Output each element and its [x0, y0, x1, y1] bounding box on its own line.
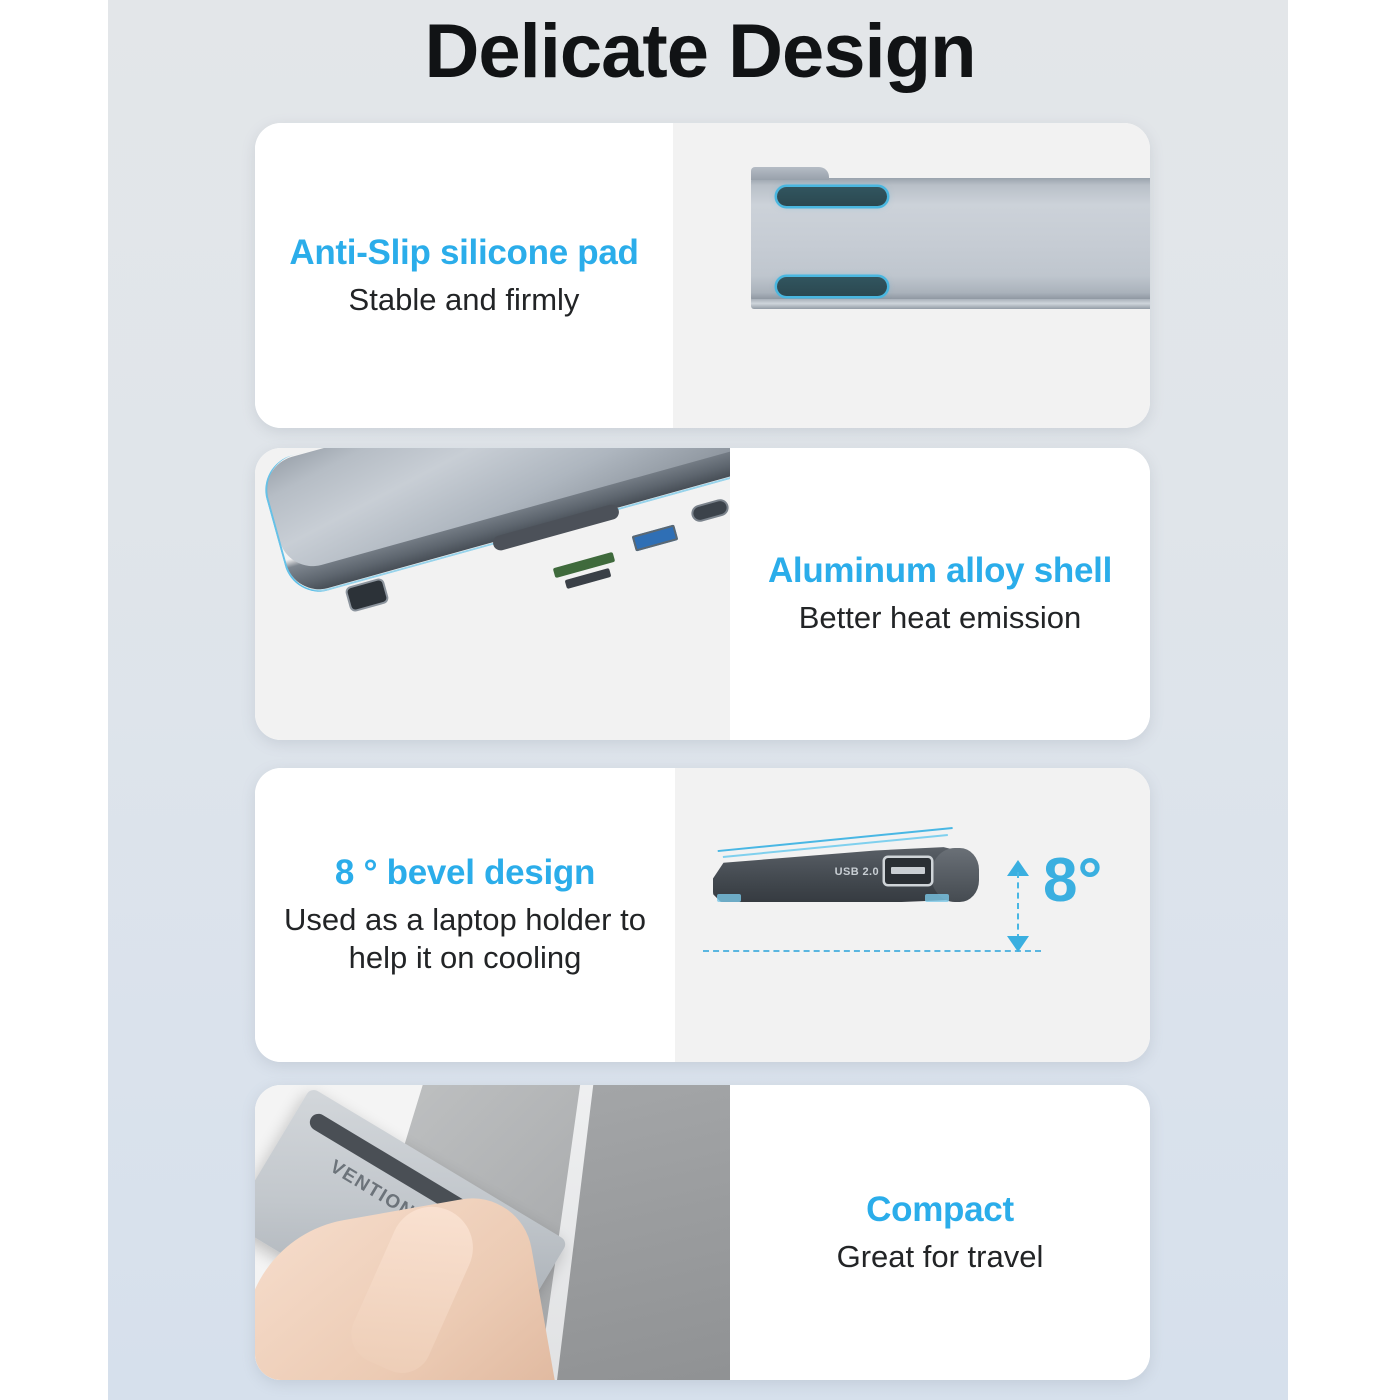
- travel-photo: VENTION: [255, 1085, 730, 1380]
- card-subheading-line1: Used as a laptop holder to: [284, 901, 646, 939]
- usb-c-port-icon: [692, 500, 728, 522]
- card-subheading: Better heat emission: [799, 599, 1082, 637]
- feature-card-aluminum-shell: Aluminum alloy shell Better heat emissio…: [255, 448, 1150, 740]
- hub-blue-edge-glow: [257, 448, 730, 600]
- hub-angled-body: [255, 456, 730, 706]
- card-image-bevel-design: USB 2.0 8°: [675, 768, 1150, 1062]
- hub-underside-illustration: [673, 123, 1150, 428]
- card-heading: 8 ° bevel design: [335, 853, 595, 892]
- desk-baseline-dashed: [703, 950, 1041, 952]
- hub-angled-illustration: [255, 448, 730, 740]
- card-subheading: Used as a laptop holder to help it on co…: [284, 901, 646, 977]
- hub-profile-illustration: USB 2.0 8°: [675, 768, 1150, 1062]
- feature-card-compact: VENTION Compact Great for travel: [255, 1085, 1150, 1380]
- hub-foot-left: [717, 894, 741, 902]
- card-image-compact: VENTION: [255, 1085, 730, 1380]
- card-heading: Aluminum alloy shell: [768, 551, 1112, 590]
- card-text-compact: Compact Great for travel: [730, 1085, 1150, 1380]
- product-feature-page: Delicate Design Anti-Slip silicone pad S…: [0, 0, 1400, 1400]
- feature-card-bevel-design: 8 ° bevel design Used as a laptop holder…: [255, 768, 1150, 1062]
- silicone-pad-top: [777, 187, 887, 206]
- card-heading: Compact: [866, 1190, 1014, 1229]
- card-text-bevel-design: 8 ° bevel design Used as a laptop holder…: [255, 768, 675, 1062]
- usb-port-label: USB 2.0: [835, 866, 879, 878]
- angle-value-label: 8°: [1043, 850, 1102, 912]
- angle-arrow-icon: [1005, 860, 1033, 952]
- arrow-down-head: [1007, 936, 1029, 952]
- page-title: Delicate Design: [0, 8, 1400, 95]
- card-subheading: Great for travel: [837, 1238, 1044, 1276]
- usb-a-port-icon: [632, 524, 679, 551]
- usb-a-port-icon: [885, 858, 931, 884]
- card-image-aluminum-shell: [255, 448, 730, 740]
- feature-card-anti-slip: Anti-Slip silicone pad Stable and firmly: [255, 123, 1150, 428]
- arrow-shaft: [1017, 872, 1019, 940]
- card-text-anti-slip: Anti-Slip silicone pad Stable and firmly: [255, 123, 673, 428]
- silicone-pad-bottom: [777, 277, 887, 296]
- front-usb-port-icon: [347, 580, 388, 611]
- card-image-anti-slip: [673, 123, 1150, 428]
- card-heading: Anti-Slip silicone pad: [289, 233, 638, 272]
- card-subheading-line2: help it on cooling: [284, 939, 646, 977]
- card-subheading: Stable and firmly: [349, 281, 580, 319]
- hub-body: [751, 178, 1150, 300]
- card-text-aluminum-shell: Aluminum alloy shell Better heat emissio…: [730, 448, 1150, 740]
- hub-foot-right: [925, 894, 949, 902]
